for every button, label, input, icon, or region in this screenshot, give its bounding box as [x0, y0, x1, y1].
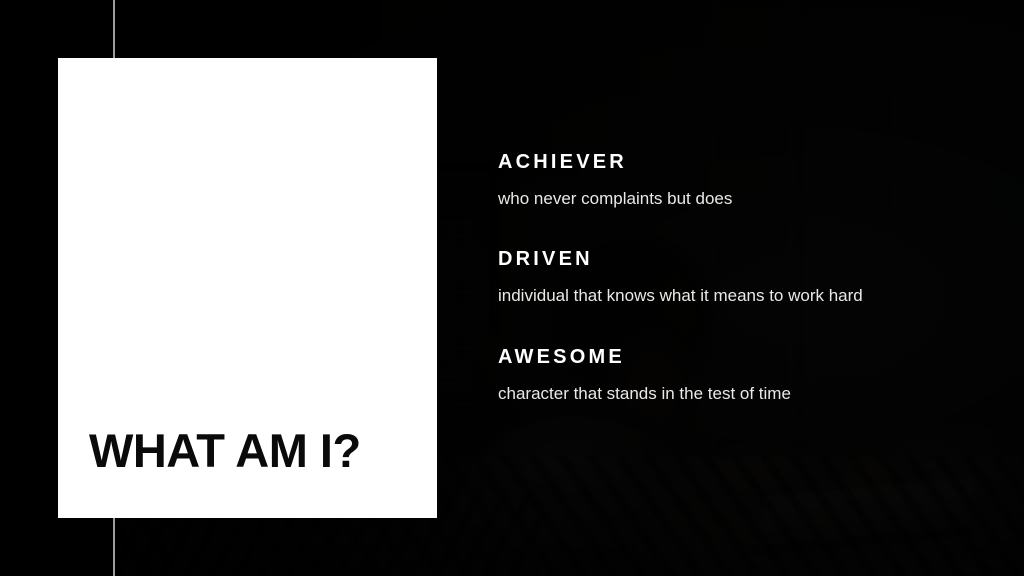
trait-item: ACHIEVER who never complaints but does — [498, 150, 968, 209]
trait-item: DRIVEN individual that knows what it mea… — [498, 247, 968, 306]
trait-title: DRIVEN — [498, 247, 968, 271]
presentation-slide: WHAT AM I? ACHIEVER who never complaints… — [0, 0, 1024, 576]
trait-title: AWESOME — [498, 345, 968, 369]
page-title: WHAT AM I? — [89, 427, 361, 474]
trait-title: ACHIEVER — [498, 150, 968, 174]
trait-list: ACHIEVER who never complaints but does D… — [498, 150, 968, 404]
trait-item: AWESOME character that stands in the tes… — [498, 345, 968, 404]
trait-description: individual that knows what it means to w… — [498, 285, 968, 306]
trait-description: who never complaints but does — [498, 188, 968, 209]
title-card: WHAT AM I? — [58, 58, 437, 518]
trait-description: character that stands in the test of tim… — [498, 383, 968, 404]
